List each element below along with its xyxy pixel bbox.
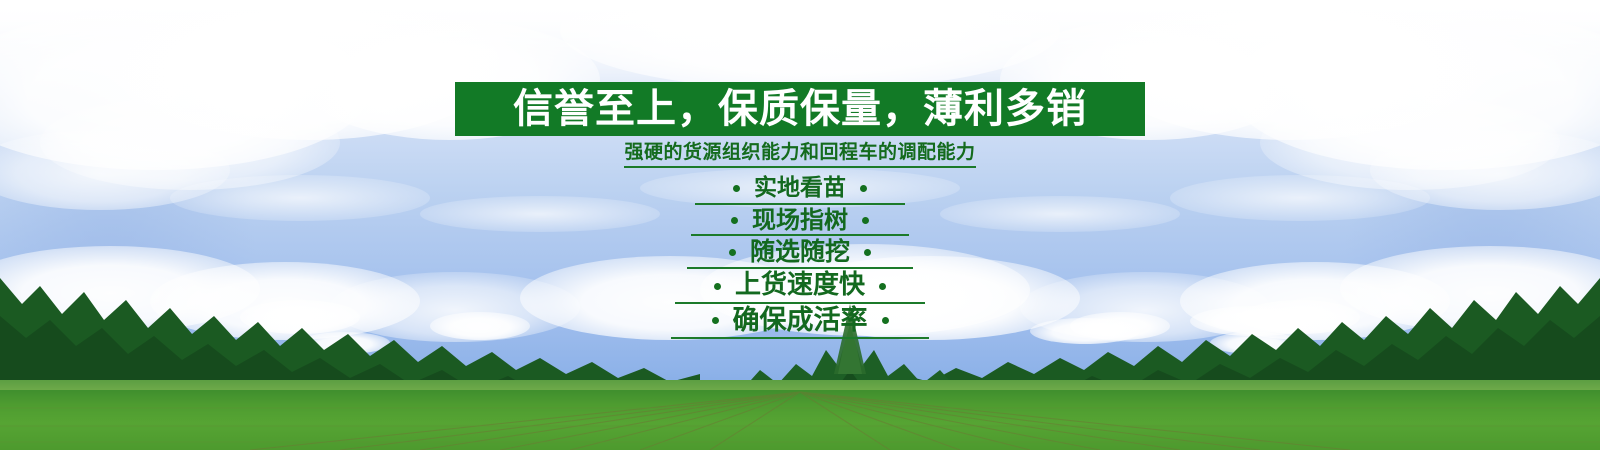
headline-bar: 信誉至上，保质保量，薄利多销 [455, 82, 1145, 136]
feature-item: 上货速度快 [675, 271, 925, 303]
feature-label: 现场指树 [738, 207, 862, 234]
bullet-dot-icon [882, 317, 889, 324]
feature-item: 现场指树 [691, 207, 909, 237]
feature-label: 实地看苗 [740, 176, 860, 202]
feature-list: 实地看苗 现场指树 随选随挖 上货速度快 确保成活率 [671, 176, 929, 341]
bullet-dot-icon [864, 249, 871, 256]
feature-item: 实地看苗 [695, 176, 905, 205]
bullet-dot-icon [862, 217, 869, 224]
bullet-dot-icon [860, 185, 867, 192]
feature-label: 确保成活率 [719, 306, 882, 336]
bullet-dot-icon [729, 249, 736, 256]
promo-banner: 信誉至上，保质保量，薄利多销 强硬的货源组织能力和回程车的调配能力 实地看苗 现… [0, 0, 1600, 450]
feature-item: 随选随挖 [687, 238, 913, 269]
bullet-dot-icon [731, 217, 738, 224]
banner-content: 信誉至上，保质保量，薄利多销 强硬的货源组织能力和回程车的调配能力 实地看苗 现… [0, 0, 1600, 450]
bullet-dot-icon [712, 317, 719, 324]
bullet-dot-icon [733, 185, 740, 192]
bullet-dot-icon [879, 283, 886, 290]
feature-item: 确保成活率 [671, 306, 929, 339]
feature-label: 上货速度快 [721, 271, 879, 300]
subtitle-text: 强硬的货源组织能力和回程车的调配能力 [624, 142, 975, 168]
headline-text: 信誉至上，保质保量，薄利多销 [513, 89, 1087, 129]
feature-label: 随选随挖 [736, 238, 864, 266]
bullet-dot-icon [714, 283, 721, 290]
